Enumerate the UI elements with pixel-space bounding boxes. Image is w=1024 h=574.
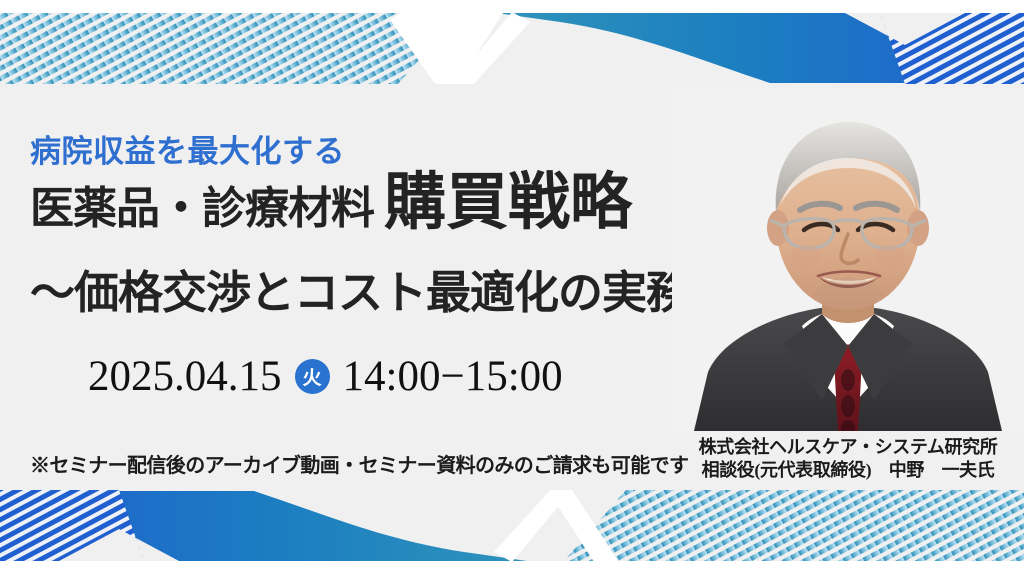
top-decoration	[0, 0, 1024, 88]
datetime-row: 2025.04.15 火 14:00−15:00	[88, 352, 563, 401]
speaker-photo	[672, 88, 1024, 431]
main-title: 医薬品・診療材料 購買戦略	[30, 172, 632, 236]
bottom-decoration-graphic	[0, 486, 1024, 574]
weekday-badge: 火	[295, 359, 330, 394]
kicker-text: 病院収益を最大化する	[30, 126, 345, 171]
speaker-role-name: 相談役(元代表取締役) 中野 一夫氏	[672, 459, 1024, 482]
speaker-portrait-illustration	[672, 88, 1024, 431]
speaker-caption: 株式会社ヘルスケア・システム研究所 相談役(元代表取締役) 中野 一夫氏	[672, 436, 1024, 482]
seminar-banner: 病院収益を最大化する 医薬品・診療材料 購買戦略 〜価格交渉とコスト最適化の実務…	[0, 0, 1024, 574]
subtitle-text: 〜価格交渉とコスト最適化の実務〜	[30, 256, 734, 321]
title-large-part: 購買戦略	[384, 174, 632, 233]
event-date: 2025.04.15	[88, 352, 282, 401]
title-small-part: 医薬品・診療材料	[30, 172, 374, 236]
event-time: 14:00−15:00	[343, 352, 563, 401]
bottom-decoration	[0, 486, 1024, 574]
banner-text-column: 病院収益を最大化する 医薬品・診療材料 購買戦略 〜価格交渉とコスト最適化の実務…	[0, 88, 690, 486]
speaker-organization: 株式会社ヘルスケア・システム研究所	[672, 436, 1024, 459]
archive-note: ※セミナー配信後のアーカイブ動画・セミナー資料のみのご請求も可能です	[30, 449, 688, 478]
deco-chevron-gap	[390, 3, 530, 88]
top-decoration-graphic	[0, 0, 1024, 88]
